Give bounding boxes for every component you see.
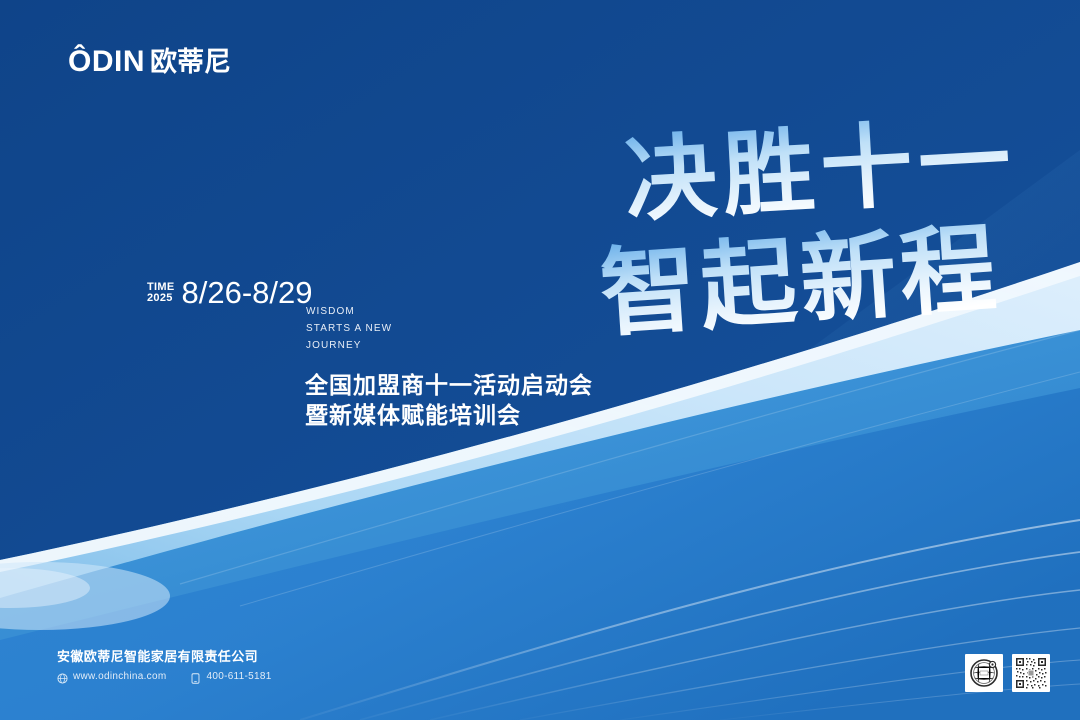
- event-date-range: 8/26-8/29: [181, 277, 312, 309]
- time-label-year: 2025: [147, 293, 174, 304]
- event-subtitle: 全国加盟商十一活动启动会 暨新媒体赋能培训会: [305, 370, 593, 430]
- website-text: www.odinchina.com: [73, 671, 166, 682]
- brand-logo: ÔDIN 欧蒂尼: [68, 45, 231, 79]
- phone-text: 400-611-5181: [206, 671, 271, 682]
- footer-block: 安徽欧蒂尼智能家居有限责任公司 www.odinchina.com: [57, 648, 296, 682]
- logo-chinese-name: 欧蒂尼: [150, 49, 231, 76]
- tagline-line-3: JOURNEY: [306, 337, 392, 354]
- event-date-block: TIME 2025 8/26-8/29: [147, 277, 312, 309]
- english-tagline: WISDOM STARTS A NEW JOURNEY: [306, 303, 392, 354]
- tagline-line-1: WISDOM: [306, 303, 392, 320]
- globe-icon: [57, 671, 68, 682]
- tagline-line-2: STARTS A NEW: [306, 320, 392, 337]
- subtitle-line-1: 全国加盟商十一活动启动会: [305, 370, 593, 400]
- company-name: 安徽欧蒂尼智能家居有限责任公司: [57, 648, 296, 666]
- circular-badge-qr[interactable]: [965, 654, 1003, 692]
- website-item[interactable]: www.odinchina.com: [57, 671, 166, 682]
- subtitle-line-2: 暨新媒体赋能培训会: [305, 400, 593, 430]
- time-label: TIME 2025: [147, 282, 174, 304]
- poster-canvas: ÔDIN 欧蒂尼 决胜十一 智起新程 TIME 2025 8/26-8/29: [0, 0, 1080, 720]
- headline-calligraphy: 决胜十一 智起新程: [422, 105, 1022, 335]
- logo-wordmark-icon: ÔDIN: [68, 47, 145, 77]
- qr-code-group: [965, 654, 1050, 692]
- phone-icon: [190, 671, 201, 682]
- square-qr[interactable]: [1012, 654, 1050, 692]
- phone-item[interactable]: 400-611-5181: [190, 671, 271, 682]
- contact-row: www.odinchina.com 400-611-5181: [57, 671, 296, 682]
